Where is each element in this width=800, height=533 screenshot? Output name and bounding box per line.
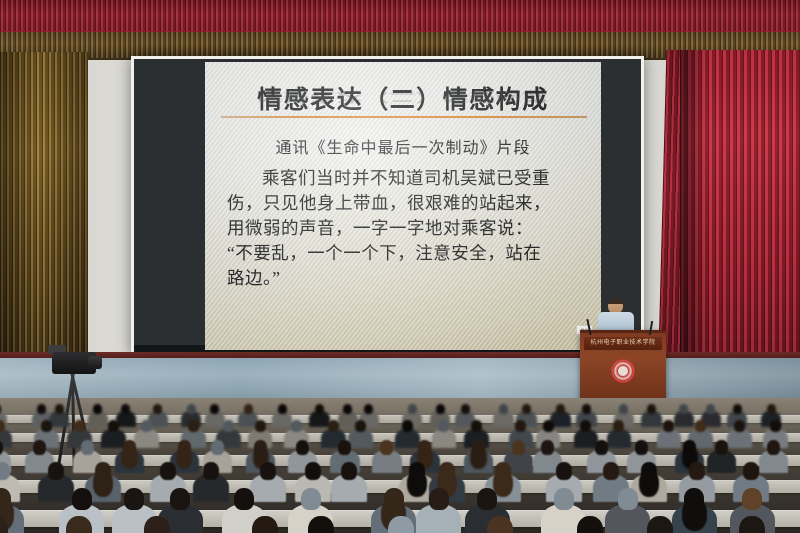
audience-member-head: [619, 404, 628, 414]
audience-member-head: [767, 404, 776, 414]
audience-member-head: [515, 420, 526, 432]
audience-member-head: [767, 440, 780, 455]
slide-body-text: 乘客们当时并不知道司机吴斌已受重 伤，只见他身上带血，很艰难的站起来， 用微弱的…: [227, 166, 585, 291]
audience-member-head: [255, 420, 266, 432]
audience-member-hair: [470, 447, 486, 469]
audience-member-head: [541, 440, 554, 455]
audience-member-head: [81, 440, 94, 455]
audience-member-head: [234, 488, 254, 510]
slide-body-line: “不要乱，一个一个下，注意安全，站在: [227, 241, 585, 266]
audience-member-head: [603, 462, 619, 480]
audience-member-head: [706, 404, 715, 414]
audience-member-head: [121, 404, 130, 414]
title-underline-rule: [221, 116, 587, 118]
audience-member-head: [742, 488, 762, 510]
school-emblem-icon: [611, 359, 635, 383]
lecture-hall-photo: 情感表达（二）情感构成 情感表达（二）情感构成 通讯《生命中最后一次制动》片段 …: [0, 0, 800, 533]
audience-member-head: [170, 488, 190, 510]
audience-member-head: [477, 488, 497, 510]
podium-sign: 杭州电子职业技术学院: [584, 337, 662, 350]
audience-member-head: [296, 440, 309, 455]
audience-member-head: [556, 462, 572, 480]
audience-member-head: [210, 404, 219, 414]
audience-member-head: [512, 440, 525, 455]
audience-member-head: [695, 420, 706, 432]
audience-member-head: [647, 404, 656, 414]
audience-member-hair: [639, 471, 659, 498]
audience-member-head: [33, 440, 46, 455]
audience-member-head: [522, 404, 531, 414]
audience-member-head: [343, 404, 352, 414]
audience-member-head: [211, 440, 224, 455]
audience-member-head: [556, 404, 565, 414]
audience-member-head: [278, 404, 287, 414]
audience-member-head: [580, 420, 591, 432]
gold-stage-curtain: [0, 52, 88, 382]
audience-member-hair: [407, 471, 427, 498]
audience-member-head: [0, 462, 10, 480]
podium: 杭州电子职业技术学院: [580, 330, 666, 402]
audience-member-head: [188, 420, 199, 432]
audience-member-head: [734, 420, 745, 432]
audience-member-head: [305, 462, 321, 480]
audience-member-head: [338, 440, 351, 455]
audience-member-head: [554, 488, 574, 510]
slide-body-line: 伤，只见他身上带血，很艰难的站起来，: [227, 191, 585, 216]
audience-member-head: [223, 420, 234, 432]
audience-member-head: [41, 420, 52, 432]
slide-body-line: 路边。”: [227, 266, 585, 291]
slide-body-line: 用微弱的声音，一字一字地对乘客说：: [227, 216, 585, 241]
audience-member-head: [402, 420, 413, 432]
audience-member-head: [663, 420, 674, 432]
audience-member-hair: [93, 471, 113, 498]
audience-member-head: [429, 488, 449, 510]
audience-member-head: [187, 404, 196, 414]
audience-member-head: [355, 420, 366, 432]
audience-member-head: [141, 420, 152, 432]
audience-member-head: [72, 488, 92, 510]
audience-member-head: [160, 462, 176, 480]
audience-member-head: [341, 462, 357, 480]
slide-title-reflection: 情感表达（二）情感构成: [205, 90, 601, 106]
audience-member-head: [124, 488, 144, 510]
audience-member-head: [471, 420, 482, 432]
presentation-slide: 情感表达（二）情感构成 情感表达（二）情感构成 通讯《生命中最后一次制动》片段 …: [205, 62, 601, 350]
red-stage-curtain: [680, 50, 800, 400]
audience-member-head: [260, 462, 276, 480]
audience-member-head: [743, 462, 759, 480]
slide-body-line: 乘客们当时并不知道司机吴斌已受重: [227, 166, 585, 191]
audience-member-hair: [176, 447, 192, 469]
audience-member-head: [461, 404, 470, 414]
audience-member-head: [679, 404, 688, 414]
audience-member-head: [733, 404, 742, 414]
audience-member-head: [438, 420, 449, 432]
audience-member-head: [108, 420, 119, 432]
audience-member-head: [93, 404, 102, 414]
audience-member-head: [647, 516, 673, 533]
audience-member-head: [380, 440, 393, 455]
audience-member-head: [499, 404, 508, 414]
presenter: [596, 298, 636, 334]
audience-member-head: [595, 440, 608, 455]
audience-member-head: [436, 404, 445, 414]
audience-member-hair: [682, 499, 707, 531]
audience-member-head: [74, 420, 85, 432]
audience-member-head: [715, 440, 728, 455]
audience-member-head: [328, 420, 339, 432]
audience-member-hair: [121, 447, 137, 469]
audience-member-head: [364, 404, 373, 414]
audience-member-head: [739, 516, 765, 533]
audience-member-head: [388, 516, 414, 533]
audience-member-head: [203, 462, 219, 480]
audience-member-head: [315, 404, 324, 414]
audience-member-head: [689, 462, 705, 480]
audience-member-head: [770, 420, 781, 432]
audience-member-head: [37, 404, 46, 414]
audience-member-head: [543, 420, 554, 432]
audience-member-head: [301, 488, 321, 510]
audience-member-head: [48, 462, 64, 480]
audience-member-head: [582, 404, 591, 414]
audience-member-head: [291, 420, 302, 432]
audience-area: [0, 398, 800, 533]
audience-member-head: [618, 488, 638, 510]
camera-lens-icon: [88, 356, 102, 369]
audience-member-head: [613, 420, 624, 432]
audience-member-head: [635, 440, 648, 455]
red-valance: [0, 0, 800, 34]
audience-member-head: [244, 404, 253, 414]
audience-member-head: [153, 404, 162, 414]
slide-subtitle: 通讯《生命中最后一次制动》片段: [205, 134, 601, 158]
audience-member-head: [55, 404, 64, 414]
audience-member-head: [408, 404, 417, 414]
